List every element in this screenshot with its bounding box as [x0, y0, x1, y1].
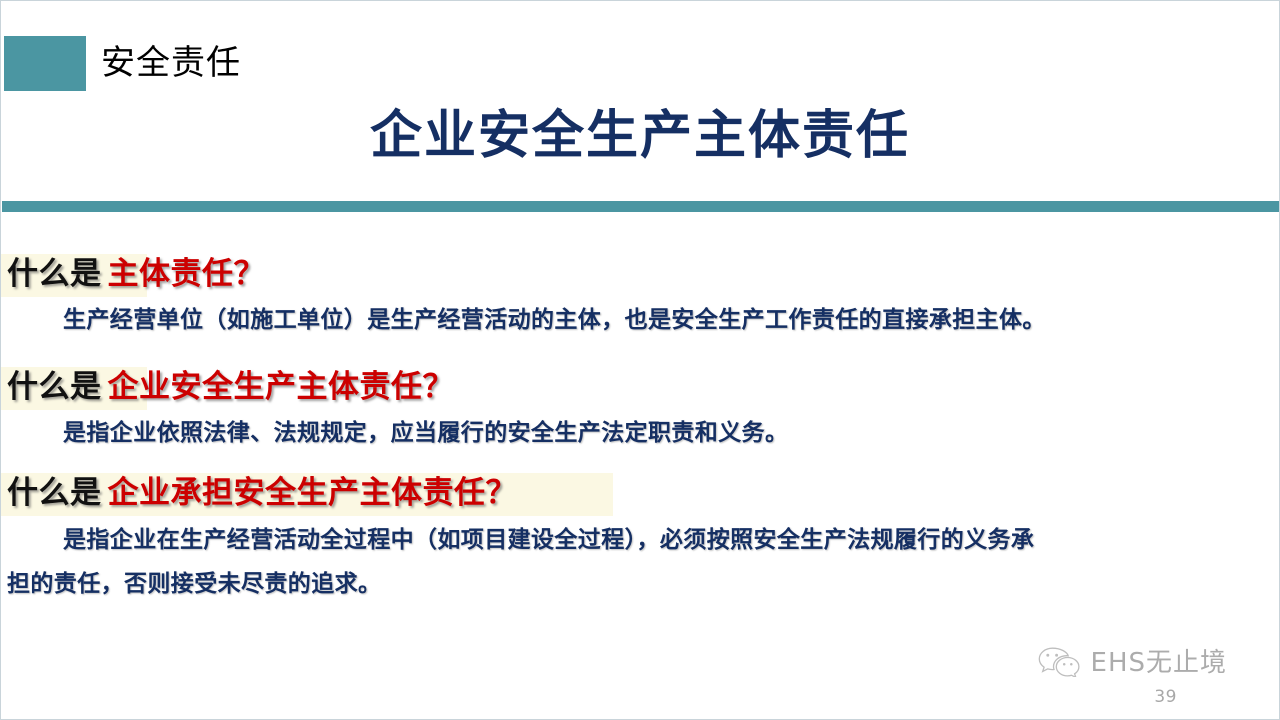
page-title: 企业安全生产主体责任	[1, 105, 1279, 167]
slide-canvas: 安全责任 企业安全生产主体责任 什么是主体责任？ 生产经营单位（如施工单位）是生…	[0, 0, 1280, 720]
watermark: EHS无止境	[1036, 645, 1227, 681]
question-line-2: 什么是企业安全生产主体责任？	[1, 363, 1280, 411]
answer-block-2: 是指企业依照法律、法规规定，应当履行的安全生产法定职责和义务。	[1, 411, 1280, 455]
question-prefix-1: 什么是	[1, 250, 102, 298]
watermark-label: EHS无止境	[1091, 648, 1227, 678]
title-divider-rule	[2, 201, 1280, 212]
page-number: 39	[1154, 687, 1177, 707]
header-accent-swatch	[4, 36, 86, 91]
answer-block-3-cont: 担的责任，否则接受未尽责的追求。	[1, 562, 1280, 606]
answer-line: 担的责任，否则接受未尽责的追求。	[1, 562, 1280, 606]
question-emphasis-1: 主体责任？	[102, 250, 266, 298]
answer-block-3: 是指企业在生产经营活动全过程中（如项目建设全过程），必须按照安全生产法规履行的义…	[1, 518, 1280, 562]
question-emphasis-2: 企业安全生产主体责任？	[102, 363, 455, 411]
question-prefix-3: 什么是	[1, 469, 102, 517]
question-prefix-2: 什么是	[1, 363, 102, 411]
question-line-1: 什么是主体责任？	[1, 250, 1280, 298]
answer-line: 是指企业在生产经营活动全过程中（如项目建设全过程），必须按照安全生产法规履行的义…	[1, 518, 1280, 562]
answer-block-1: 生产经营单位（如施工单位）是生产经营活动的主体，也是安全生产工作责任的直接承担主…	[1, 298, 1280, 342]
question-line-3: 什么是企业承担安全生产主体责任？	[1, 469, 1280, 517]
wechat-icon	[1036, 645, 1082, 681]
answer-line: 生产经营单位（如施工单位）是生产经营活动的主体，也是安全生产工作责任的直接承担主…	[1, 298, 1280, 342]
qa-block-1: 什么是主体责任？	[1, 250, 1280, 298]
header-kicker-text: 安全责任	[101, 37, 241, 89]
answer-line: 是指企业依照法律、法规规定，应当履行的安全生产法定职责和义务。	[1, 411, 1280, 455]
qa-block-2: 什么是企业安全生产主体责任？	[1, 363, 1280, 411]
qa-block-3: 什么是企业承担安全生产主体责任？	[1, 469, 1280, 517]
question-emphasis-3: 企业承担安全生产主体责任？	[102, 469, 518, 517]
